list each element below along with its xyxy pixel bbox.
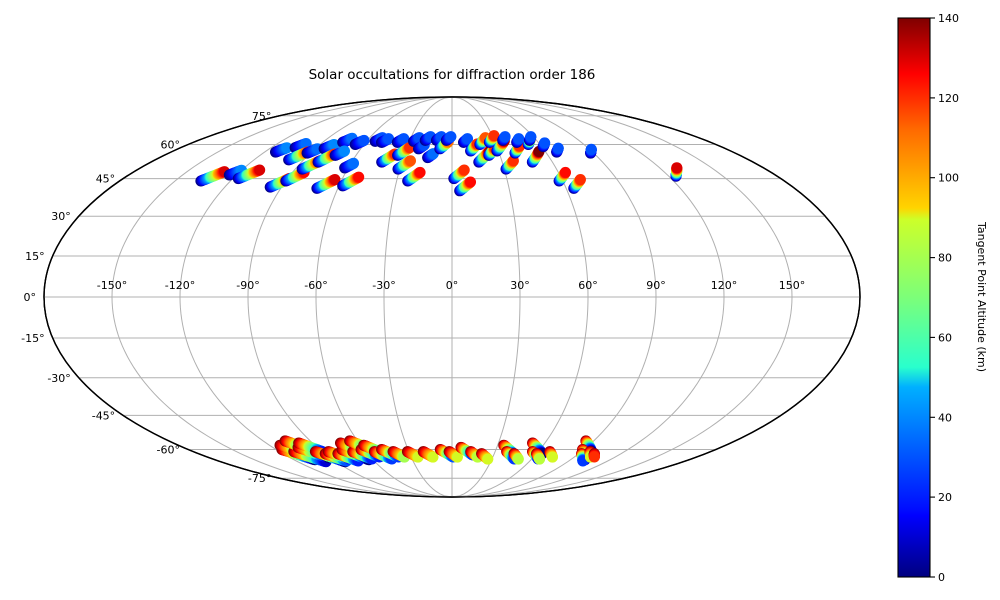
- longitude-tick-150: 150°: [779, 279, 806, 292]
- latitude-tick--45: -45°: [92, 409, 115, 422]
- occultation-point: [534, 454, 545, 465]
- longitude-tick--120: -120°: [165, 279, 195, 292]
- occultation-point: [671, 162, 682, 173]
- longitude-tick--150: -150°: [97, 279, 127, 292]
- colorbar: 020406080100120140 Tangent Point Altitud…: [898, 12, 988, 584]
- occultation-point: [547, 452, 558, 463]
- occultation-point: [359, 135, 370, 146]
- longitude-tick-90: 90°: [646, 279, 666, 292]
- occultation-point: [348, 158, 359, 169]
- latitude-tick-75: 75°: [252, 110, 272, 123]
- colorbar-ticks: 020406080100120140: [930, 12, 959, 584]
- latitude-tick--60: -60°: [157, 444, 180, 457]
- colorbar-tick-120: 120: [938, 92, 959, 105]
- occultation-point: [560, 167, 571, 178]
- colorbar-tick-100: 100: [938, 172, 959, 185]
- longitude-tick--90: -90°: [236, 279, 259, 292]
- latitude-tick-30: 30°: [51, 210, 71, 223]
- occultation-point: [254, 165, 265, 176]
- figure-canvas: -75°-60°-45°-30°-15°0°15°30°45°60°75° -1…: [0, 0, 1000, 600]
- occultation-point: [482, 454, 493, 465]
- occultation-point: [586, 144, 597, 155]
- latitude-tick-60: 60°: [161, 139, 181, 152]
- longitude-tick-120: 120°: [711, 279, 738, 292]
- occultation-point: [589, 451, 600, 462]
- latitude-tick-0: 0°: [24, 291, 37, 304]
- longitude-tick--30: -30°: [372, 279, 395, 292]
- colorbar-gradient: [898, 18, 930, 577]
- colorbar-tick-80: 80: [938, 252, 952, 265]
- longitude-tick-0: 0°: [446, 279, 459, 292]
- occultation-point: [513, 454, 524, 465]
- occultation-point: [513, 133, 524, 144]
- occultation-point: [539, 137, 550, 148]
- latitude-tick-45: 45°: [96, 173, 116, 186]
- colorbar-tick-20: 20: [938, 491, 952, 504]
- occultation-point: [445, 131, 456, 142]
- occultation-point: [465, 176, 476, 187]
- occultation-point: [575, 174, 586, 185]
- occultation-point: [405, 155, 416, 166]
- occultation-point: [353, 172, 364, 183]
- colorbar-tick-60: 60: [938, 331, 952, 344]
- page-title: Solar occultations for diffraction order…: [309, 67, 596, 83]
- colorbar-tick-0: 0: [938, 571, 945, 584]
- occultation-point: [459, 165, 470, 176]
- latitude-tick--75: -75°: [248, 472, 271, 485]
- occultation-point: [415, 167, 426, 178]
- occultation-point: [553, 143, 564, 154]
- latitude-tick-15: 15°: [25, 250, 45, 263]
- colorbar-tick-40: 40: [938, 411, 952, 424]
- colorbar-label: Tangent Point Altitude (km): [975, 221, 988, 372]
- latitude-tick--30: -30°: [47, 372, 70, 385]
- occultation-point: [500, 131, 511, 142]
- occultation-point: [339, 145, 350, 156]
- latitude-tick--15: -15°: [21, 332, 44, 345]
- colorbar-tick-140: 140: [938, 12, 959, 25]
- occultation-point: [525, 131, 536, 142]
- longitude-tick-30: 30°: [510, 279, 530, 292]
- longitude-tick--60: -60°: [304, 279, 327, 292]
- mollweide-plot: -75°-60°-45°-30°-15°0°15°30°45°60°75° -1…: [0, 0, 1000, 600]
- longitude-tick-60: 60°: [578, 279, 598, 292]
